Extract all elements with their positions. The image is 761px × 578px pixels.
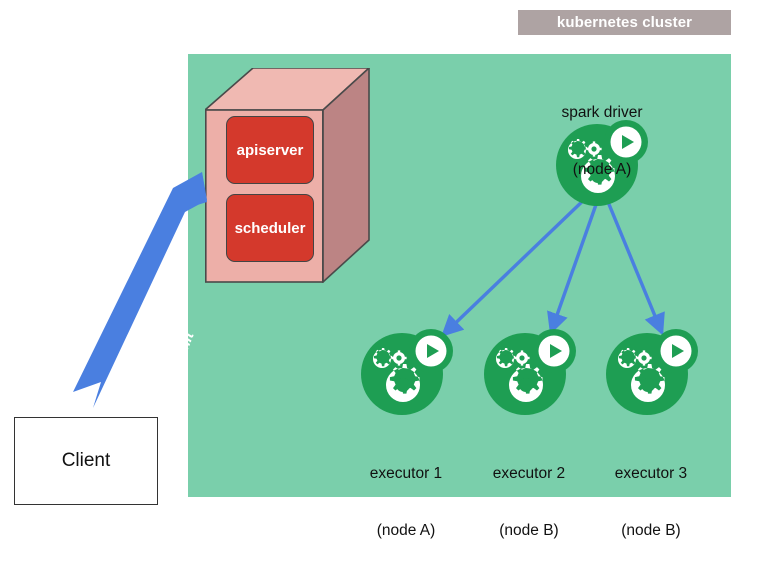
executor-3-name: executor 3 [581, 464, 721, 483]
executor-2-node-id: (node B) [459, 521, 599, 540]
executor-1-node[interactable] [357, 329, 455, 415]
spark-driver-name: spark driver [512, 103, 692, 122]
executor-3-node-id: (node B) [581, 521, 721, 540]
client-box: Client [14, 417, 158, 505]
spark-driver-caption: spark driver (node A) [512, 65, 692, 217]
spark-node-icon [357, 329, 455, 415]
spark-submit-arrow: spark-submit [55, 160, 230, 420]
spark-node-icon [480, 329, 578, 415]
spark-node-icon [602, 329, 700, 415]
kubernetes-cluster-label: kubernetes cluster [518, 10, 731, 35]
scheduler-chip[interactable]: scheduler [226, 194, 314, 262]
executor-1-name: executor 1 [336, 464, 476, 483]
executor-2-node[interactable] [480, 329, 578, 415]
spark-driver-node-id: (node A) [512, 160, 692, 179]
kubernetes-cluster-label-text: kubernetes cluster [557, 14, 692, 31]
apiserver-chip[interactable]: apiserver [226, 116, 314, 184]
diagram-canvas: kubernetes cluster Client apiserver sche… [0, 0, 761, 516]
executor-2-caption: executor 2 (node B) [459, 426, 599, 578]
scheduler-label: scheduler [235, 220, 306, 237]
block-arrow-icon [55, 160, 230, 420]
executor-1-node-id: (node A) [336, 521, 476, 540]
executor-3-node[interactable] [602, 329, 700, 415]
apiserver-label: apiserver [237, 142, 304, 159]
control-plane-components: apiserver scheduler [218, 110, 322, 268]
executor-2-name: executor 2 [459, 464, 599, 483]
executor-1-caption: executor 1 (node A) [336, 426, 476, 578]
client-label: Client [62, 450, 111, 472]
executor-3-caption: executor 3 (node B) [581, 426, 721, 578]
